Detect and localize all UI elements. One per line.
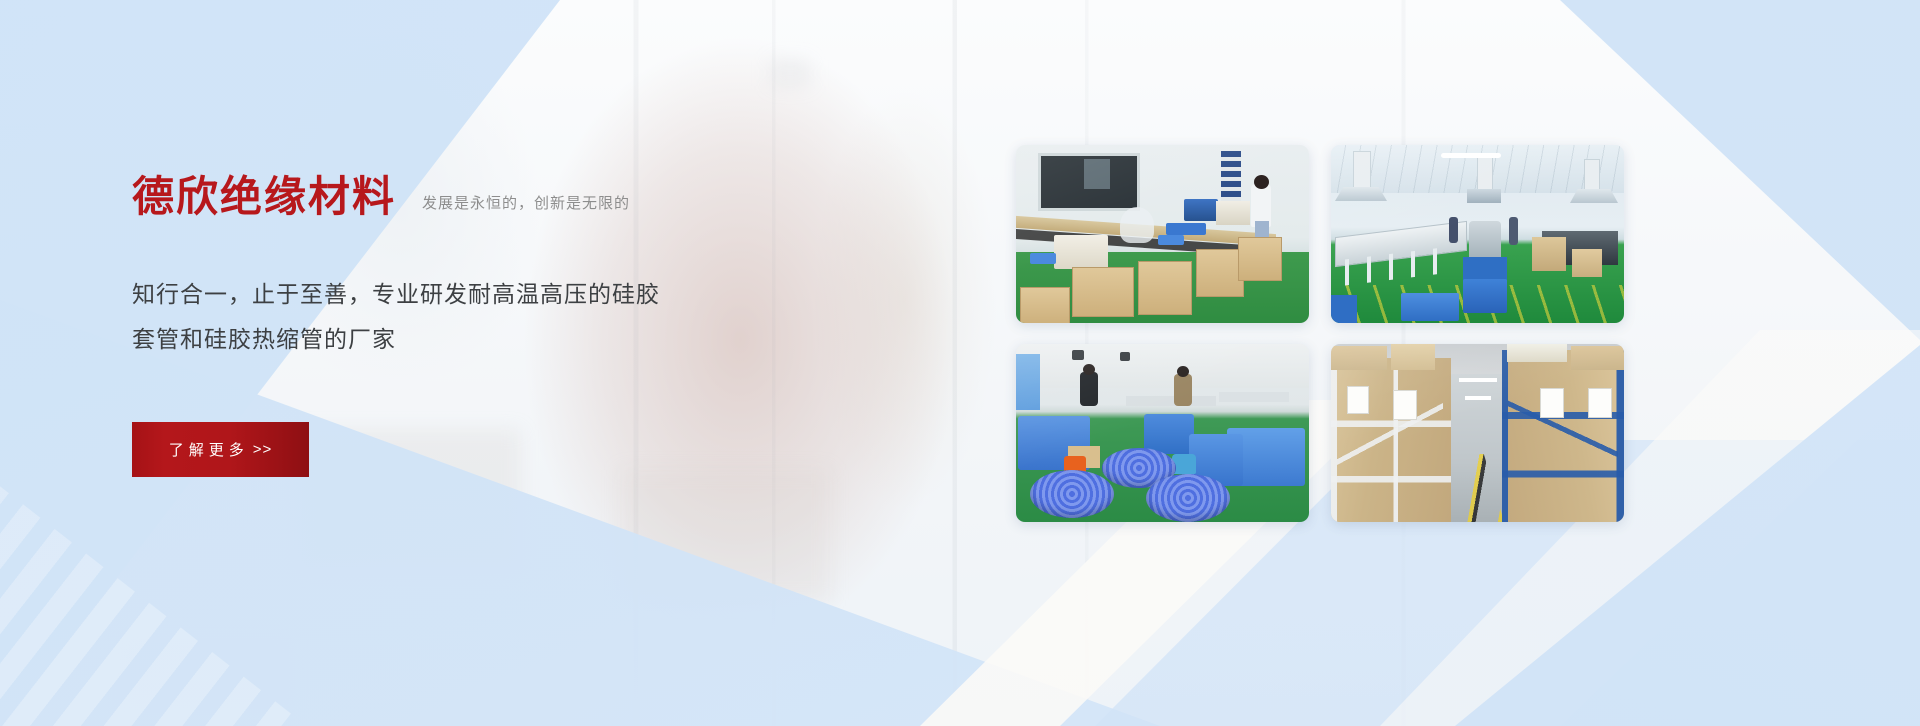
hero-description-line-1: 知行合一，止于至善，专业研发耐高温高压的硅胶 xyxy=(132,272,712,317)
hero-description: 知行合一，止于至善，专业研发耐高温高压的硅胶 套管和硅胶热缩管的厂家 xyxy=(132,272,712,362)
photo-workshop-assembly-bench[interactable] xyxy=(1016,145,1309,323)
photo-silicone-hose-coils[interactable] xyxy=(1016,344,1309,522)
chevron-right-double-icon: >> xyxy=(253,441,273,458)
learn-more-label: 了解更多 xyxy=(169,439,249,460)
photo-warehouse-storage-racks[interactable] xyxy=(1331,344,1624,522)
background-photo xyxy=(0,0,1920,726)
page-title: 德欣绝缘材料 xyxy=(132,176,396,218)
hero-copy: 德欣绝缘材料 发展是永恒的，创新是无限的 知行合一，止于至善，专业研发耐高温高压… xyxy=(132,176,832,362)
brand-slogan: 发展是永恒的，创新是无限的 xyxy=(422,192,630,218)
factory-photo-grid xyxy=(1016,145,1624,522)
photo-gloss-overlay xyxy=(1016,344,1309,522)
hero-banner: 德欣绝缘材料 发展是永恒的，创新是无限的 知行合一，止于至善，专业研发耐高温高压… xyxy=(0,0,1920,726)
photo-extrusion-production-line[interactable] xyxy=(1331,145,1624,323)
learn-more-button[interactable]: 了解更多 >> xyxy=(132,422,309,477)
title-row: 德欣绝缘材料 发展是永恒的，创新是无限的 xyxy=(132,176,832,218)
photo-gloss-overlay xyxy=(1016,145,1309,323)
photo-gloss-overlay xyxy=(1331,145,1624,323)
photo-gloss-overlay xyxy=(1331,344,1624,522)
hero-description-line-2: 套管和硅胶热缩管的厂家 xyxy=(132,317,712,362)
